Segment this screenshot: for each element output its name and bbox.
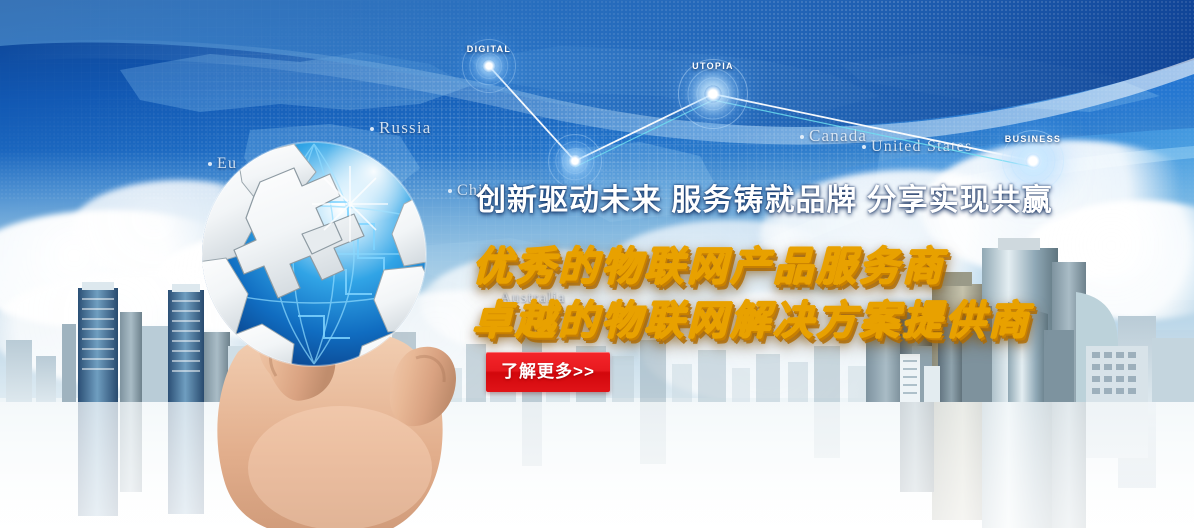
globe-icon — [198, 138, 430, 370]
hand-holding-globe — [120, 138, 480, 528]
network-node-label-digital: DIGITAL — [467, 44, 511, 54]
network-link — [713, 94, 1033, 161]
banner-tagline: 创新驱动未来 服务铸就品牌 分享实现共赢 — [476, 175, 1053, 219]
network-link — [713, 100, 1033, 167]
hero-banner: RussiaEuChinCanadaUnited StatesAustralia… — [0, 0, 1194, 528]
network-node-label-business: BUSINESS — [1005, 134, 1061, 144]
node-core-icon — [705, 86, 722, 103]
learn-more-button[interactable]: 了解更多>> — [486, 352, 610, 392]
network-node-label-utopia: UTOPIA — [692, 61, 734, 71]
node-core-icon — [1025, 153, 1042, 170]
banner-headline-secondary: 卓越的物联网解决方案提供商 — [472, 288, 1031, 346]
node-core-icon — [569, 155, 582, 168]
node-core-icon — [483, 60, 496, 73]
banner-headline-primary: 优秀的物联网产品服务商 — [472, 234, 945, 292]
